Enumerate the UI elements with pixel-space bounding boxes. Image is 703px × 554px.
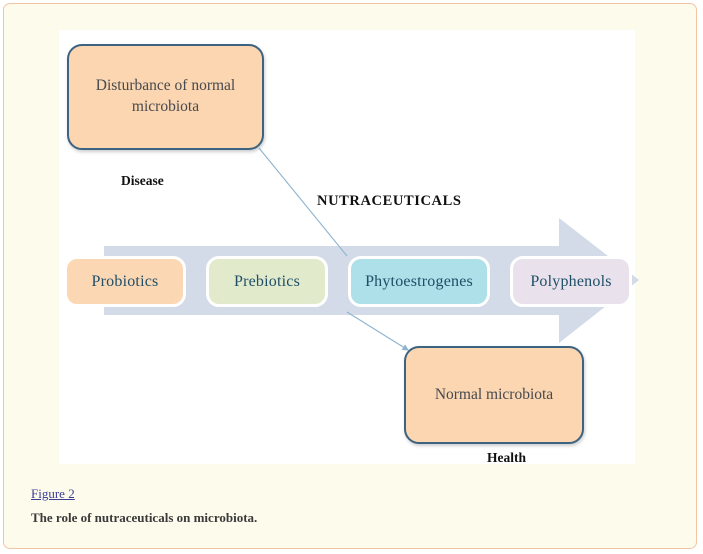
box-label: Disturbance of normal microbiota: [83, 76, 248, 118]
nutraceuticals-title: NUTRACEUTICALS: [317, 193, 462, 210]
nutraceutical-label: Polyphenols: [530, 273, 611, 291]
state-label-disease: Disease: [121, 173, 164, 189]
nutraceutical-probiotics[interactable]: Probiotics: [64, 256, 186, 307]
nutraceutical-polyphenols[interactable]: Polyphenols: [510, 256, 632, 307]
figure-page: NUTRACEUTICALS Probiotics Prebiotics Phy…: [3, 3, 697, 549]
diagram-canvas: NUTRACEUTICALS Probiotics Prebiotics Phy…: [59, 30, 635, 464]
box-label: Normal microbiota: [435, 385, 553, 406]
caption-block: Figure 2 The role of nutraceuticals on m…: [31, 485, 591, 526]
nutraceutical-label: Probiotics: [92, 273, 159, 291]
nutraceutical-label: Phytoestrogenes: [365, 273, 473, 291]
nutraceutical-label: Prebiotics: [234, 273, 300, 291]
nutraceutical-prebiotics[interactable]: Prebiotics: [206, 256, 328, 307]
box-disturbance-of-normal-microbiota[interactable]: Disturbance of normal microbiota: [67, 44, 264, 150]
figure-link[interactable]: Figure 2: [31, 486, 75, 502]
nutraceutical-phytoestrogenes[interactable]: Phytoestrogenes: [348, 256, 490, 307]
box-normal-microbiota[interactable]: Normal microbiota: [404, 346, 584, 444]
state-label-health: Health: [487, 450, 526, 466]
figure-caption: The role of nutraceuticals on microbiota…: [31, 510, 591, 526]
